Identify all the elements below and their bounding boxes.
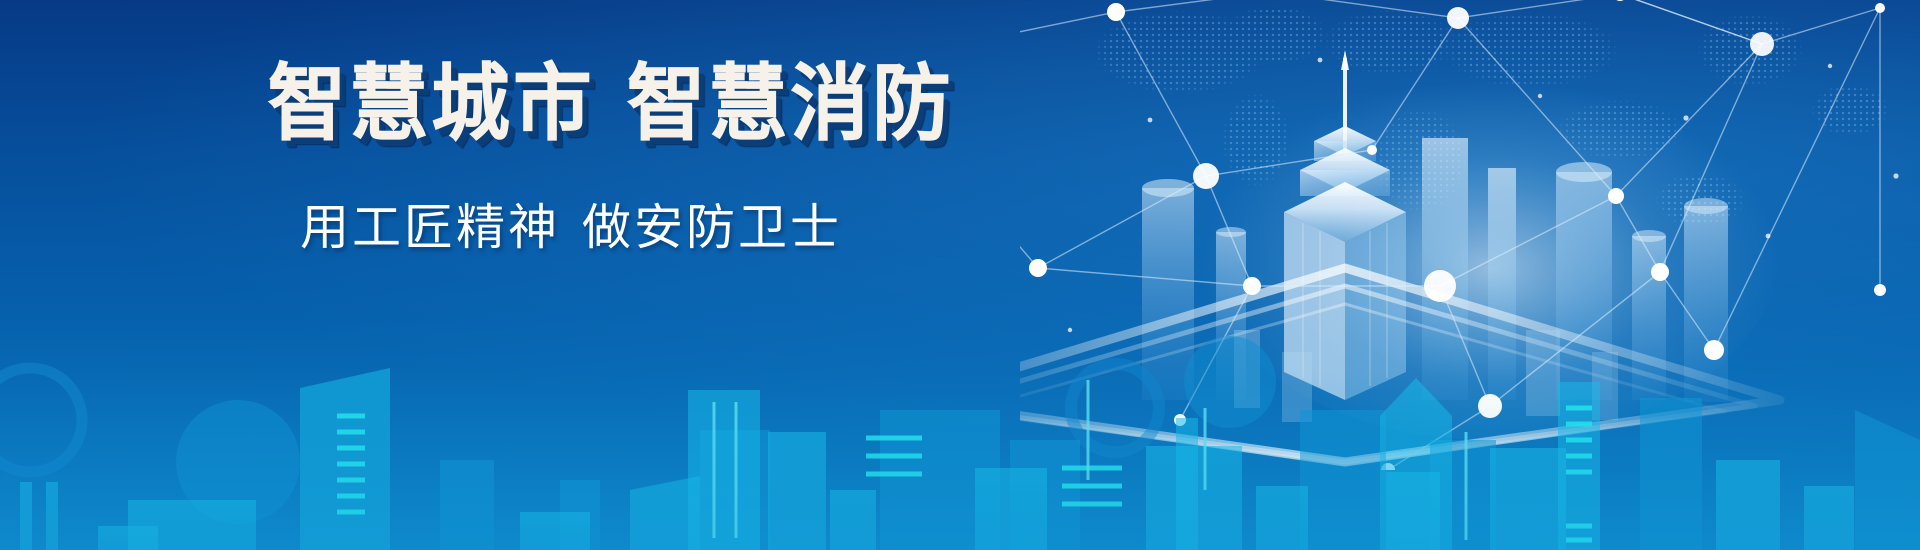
banner-title: 智慧城市智慧消防 — [268, 62, 954, 145]
banner-title-part-2: 智慧消防 — [627, 55, 954, 152]
banner-subtitle: 用工匠精神做安防卫士 — [300, 203, 842, 252]
banner-text-block: 智慧城市智慧消防 用工匠精神做安防卫士 — [0, 0, 1000, 550]
banner-title-part-1: 智慧城市 — [268, 55, 595, 152]
smart-city-banner: 智慧城市智慧消防 用工匠精神做安防卫士 — [0, 0, 1920, 550]
banner-subtitle-part-2: 做安防卫士 — [582, 199, 842, 256]
banner-subtitle-part-1: 用工匠精神 — [300, 199, 560, 256]
